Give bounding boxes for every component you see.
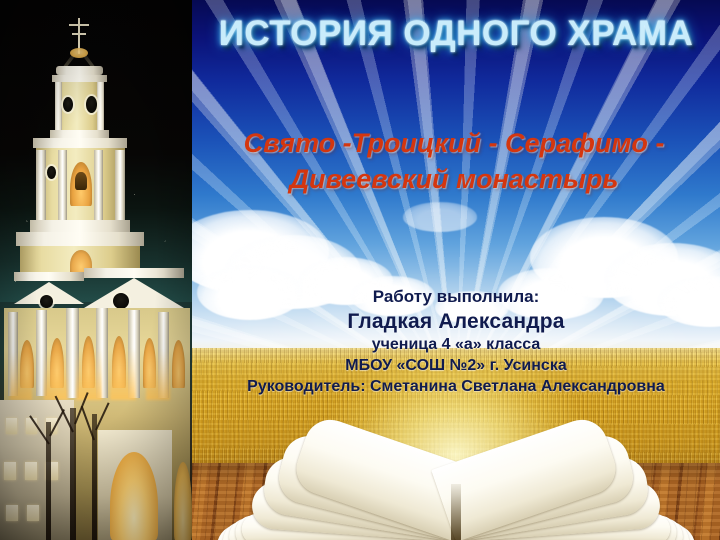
- credits-block: Работу выполнила: Гладкая Александра уче…: [192, 286, 720, 398]
- belfry-main-base: [30, 220, 130, 232]
- uplight-2: [44, 350, 68, 400]
- slide-title: ИСТОРИЯ ОДНОГО ХРАМА: [192, 14, 720, 54]
- small-oval-window: [47, 166, 56, 179]
- oval-window-left: [63, 97, 73, 112]
- oval-window-right: [86, 96, 97, 113]
- cupola-base: [56, 66, 103, 75]
- belfry-column-4: [115, 150, 125, 220]
- uplight-5: [146, 350, 170, 400]
- wing-window-7: [6, 505, 18, 521]
- slide-subtitle: Свято -Троицкий - Серафимо - Дивеевский …: [196, 126, 712, 198]
- wing-window-4: [4, 462, 16, 480]
- wing-window-1: [6, 418, 17, 434]
- credits-school: МБОУ «СОШ №2» г. Усинска: [192, 356, 720, 377]
- credits-supervisor: Руководитель: Сметанина Светлана Алексан…: [192, 377, 720, 398]
- belfry-upper-pilaster-right: [97, 82, 104, 130]
- belfry-column-3: [94, 150, 103, 220]
- cupola-cornice: [52, 75, 107, 82]
- wing-window-8: [27, 505, 39, 521]
- pediment-cornice-right: [84, 268, 184, 278]
- uplight-3: [76, 348, 102, 400]
- background-scene-sky-wheat: [192, 0, 720, 540]
- pediment-roundel-right: [113, 293, 129, 309]
- entablature-band: [16, 232, 144, 246]
- bell-tower-night-photo: [0, 0, 192, 540]
- wing-window-5: [25, 462, 37, 480]
- uplight-4: [110, 348, 136, 400]
- belfry-main-cornice: [33, 138, 127, 148]
- belfry-column-2: [58, 150, 67, 220]
- credits-prepared-by-label: Работу выполнила:: [192, 286, 720, 308]
- open-book: [206, 382, 706, 540]
- bell-silhouette: [75, 172, 87, 190]
- belfry-column-1: [36, 150, 46, 220]
- belfry-upper-base-cornice: [50, 130, 109, 138]
- subtitle-line-2: Дивеевский монастырь: [196, 162, 712, 198]
- cross-arm-upper: [69, 24, 89, 26]
- cross-arm-lower: [72, 33, 86, 35]
- pediment-roundel-left: [40, 295, 53, 308]
- presentation-slide: ИСТОРИЯ ОДНОГО ХРАМА Свято -Троицкий - С…: [0, 0, 720, 540]
- pediment-cornice-left: [14, 272, 84, 281]
- pediment-right: [84, 278, 184, 308]
- book-spine: [451, 484, 461, 540]
- cupola-lamp: [70, 48, 88, 58]
- subtitle-line-1: Свято -Троицкий - Серафимо -: [196, 126, 712, 162]
- credits-class: ученица 4 «а» класса: [192, 335, 720, 356]
- belfry-upper-pilaster-left: [55, 82, 62, 130]
- uplight-1: [10, 352, 32, 400]
- credits-author-name: Гладкая Александра: [192, 308, 720, 335]
